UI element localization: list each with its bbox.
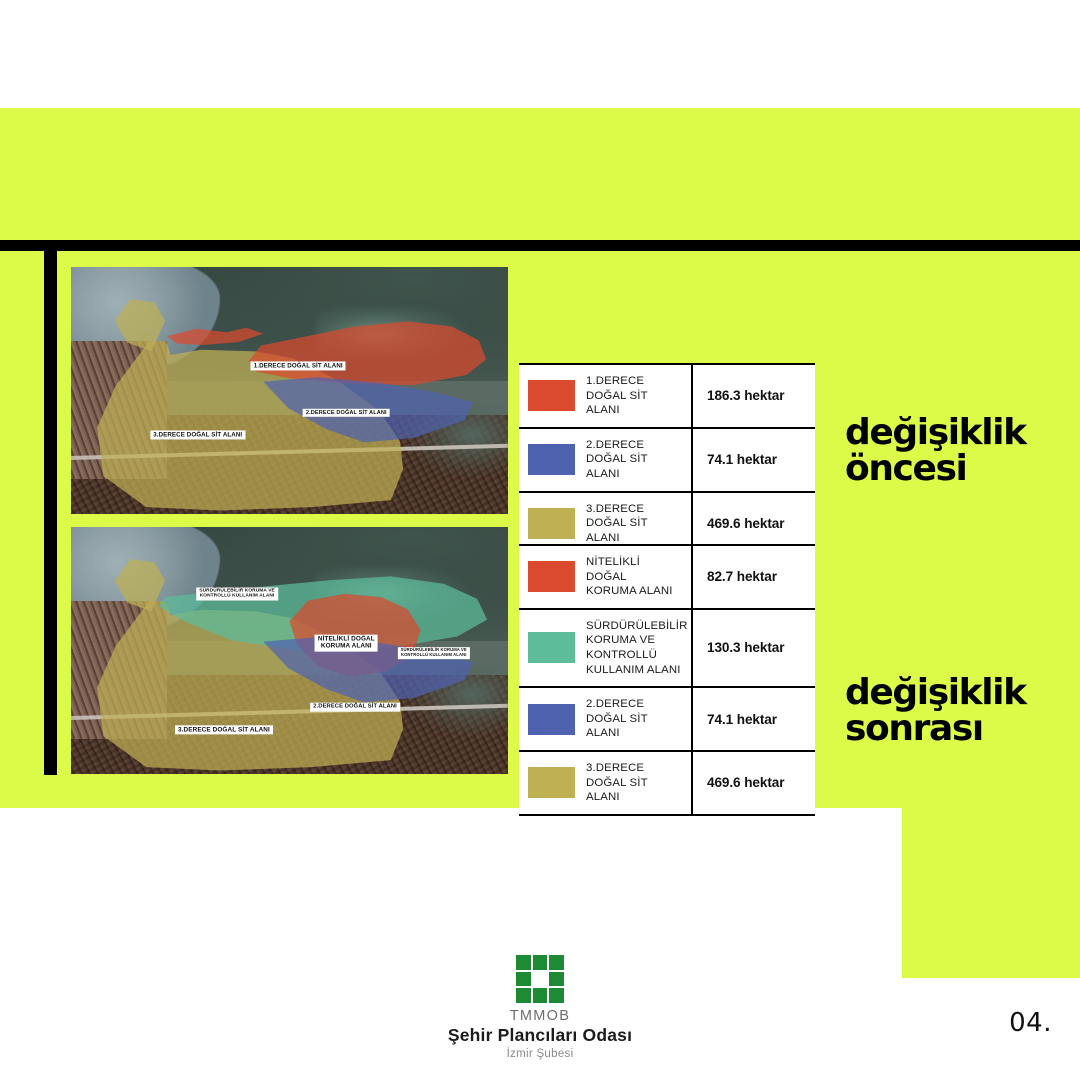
color-swatch-icon <box>528 380 575 411</box>
map-label: 2.DERECE DOĞAL SİT ALANI <box>303 409 390 417</box>
heading-after: değişiklik sonrası <box>845 675 1080 747</box>
heading-before: değişiklik öncesi <box>845 415 1080 487</box>
legend-row: 2.DERECE DOĞAL SİT ALANI 74.1 hektar <box>519 688 815 752</box>
org-name: Şehir Plancıları Odası <box>0 1025 1080 1047</box>
legend-value: 82.7 hektar <box>693 546 815 608</box>
legend-table-after: NİTELİKLİ DOĞAL KORUMA ALANI 82.7 hektar… <box>519 544 815 816</box>
legend-value: 74.1 hektar <box>693 688 815 750</box>
legend-label-cell: 3.DERECE DOĞAL SİT ALANI <box>519 752 693 814</box>
map-label: SÜRDÜRÜLEBİLİR KORUMA VE KONTROLLÜ KULLA… <box>398 647 470 659</box>
legend-table-before: 1.DERECE DOĞAL SİT ALANI 186.3 hektar 2.… <box>519 363 815 556</box>
logo-cell <box>516 955 531 970</box>
legend-label: SÜRDÜRÜLEBİLİR KORUMA VE KONTROLLÜ KULLA… <box>586 619 687 677</box>
legend-value: 74.1 hektar <box>693 429 815 491</box>
logo-cell <box>516 972 531 987</box>
logo-cell <box>533 955 548 970</box>
legend-label-cell: 1.DERECE DOĞAL SİT ALANI <box>519 365 693 427</box>
map-label: NİTELİKLİ DOĞAL KORUMA ALANI <box>315 635 378 652</box>
legend-label: 2.DERECE DOĞAL SİT ALANI <box>586 697 683 741</box>
legend-row: 3.DERECE DOĞAL SİT ALANI 469.6 hektar <box>519 752 815 814</box>
legend-label-cell: 2.DERECE DOĞAL SİT ALANI <box>519 688 693 750</box>
legend-row: SÜRDÜRÜLEBİLİR KORUMA VE KONTROLLÜ KULLA… <box>519 610 815 688</box>
org-abbreviation: TMMOB <box>0 1009 1080 1025</box>
legend-label: 3.DERECE DOĞAL SİT ALANI <box>586 502 683 546</box>
footer: TMMOB Şehir Plancıları Odası İzmir Şubes… <box>0 955 1080 1062</box>
heading-after-line1: değişiklik <box>845 675 1080 711</box>
legend-label-cell: NİTELİKLİ DOĞAL KORUMA ALANI <box>519 546 693 608</box>
lime-background-tail <box>902 808 1080 978</box>
legend-label-cell: 2.DERECE DOĞAL SİT ALANI <box>519 429 693 491</box>
logo-cell <box>516 988 531 1003</box>
logo-cell <box>549 972 564 987</box>
logo-cell <box>549 955 564 970</box>
legend-label: 1.DERECE DOĞAL SİT ALANI <box>586 374 683 418</box>
legend-value: 469.6 hektar <box>693 752 815 814</box>
map-label: 1.DERECE DOĞAL SİT ALANI <box>251 361 346 370</box>
logo-cell <box>549 988 564 1003</box>
legend-row: 2.DERECE DOĞAL SİT ALANI 74.1 hektar <box>519 429 815 493</box>
legend-value: 186.3 hektar <box>693 365 815 427</box>
map-label: 3.DERECE DOĞAL SİT ALANI <box>175 725 273 734</box>
map-label: SÜRDÜRÜLEBİLİR KORUMA VE KONTROLLÜ KULLA… <box>196 587 278 600</box>
black-vertical-rule <box>44 240 57 775</box>
legend-label-cell: SÜRDÜRÜLEBİLİR KORUMA VE KONTROLLÜ KULLA… <box>519 610 693 686</box>
color-swatch-icon <box>528 444 575 475</box>
legend-label: 2.DERECE DOĞAL SİT ALANI <box>586 438 683 482</box>
color-swatch-icon <box>528 561 575 592</box>
color-swatch-icon <box>528 632 575 663</box>
heading-after-line2: sonrası <box>845 711 1080 747</box>
slide-canvas: 1.DERECE DOĞAL SİT ALANI 2.DERECE DOĞAL … <box>0 0 1080 1080</box>
map-label: 2.DERECE DOĞAL SİT ALANI <box>310 703 400 712</box>
logo-cell-hollow <box>533 972 548 987</box>
map-after[interactable]: SÜRDÜRÜLEBİLİR KORUMA VE KONTROLLÜ KULLA… <box>71 527 508 774</box>
color-swatch-icon <box>528 704 575 735</box>
legend-label: 3.DERECE DOĞAL SİT ALANI <box>586 761 683 805</box>
heading-before-line2: öncesi <box>845 451 1080 487</box>
heading-before-line1: değişiklik <box>845 415 1080 451</box>
page-number: 04. <box>1009 1008 1052 1038</box>
map-label: 3.DERECE DOĞAL SİT ALANI <box>150 430 245 439</box>
color-swatch-icon <box>528 508 575 539</box>
legend-row: 1.DERECE DOĞAL SİT ALANI 186.3 hektar <box>519 365 815 429</box>
color-swatch-icon <box>528 767 575 798</box>
map-before[interactable]: 1.DERECE DOĞAL SİT ALANI 2.DERECE DOĞAL … <box>71 267 508 514</box>
logo-cell <box>533 988 548 1003</box>
black-horizontal-rule <box>0 240 1080 251</box>
org-branch: İzmir Şubesi <box>0 1047 1080 1062</box>
legend-row: NİTELİKLİ DOĞAL KORUMA ALANI 82.7 hektar <box>519 546 815 610</box>
legend-label: NİTELİKLİ DOĞAL KORUMA ALANI <box>586 555 683 599</box>
legend-value: 130.3 hektar <box>693 610 815 686</box>
tmmob-logo-icon <box>516 955 564 1003</box>
